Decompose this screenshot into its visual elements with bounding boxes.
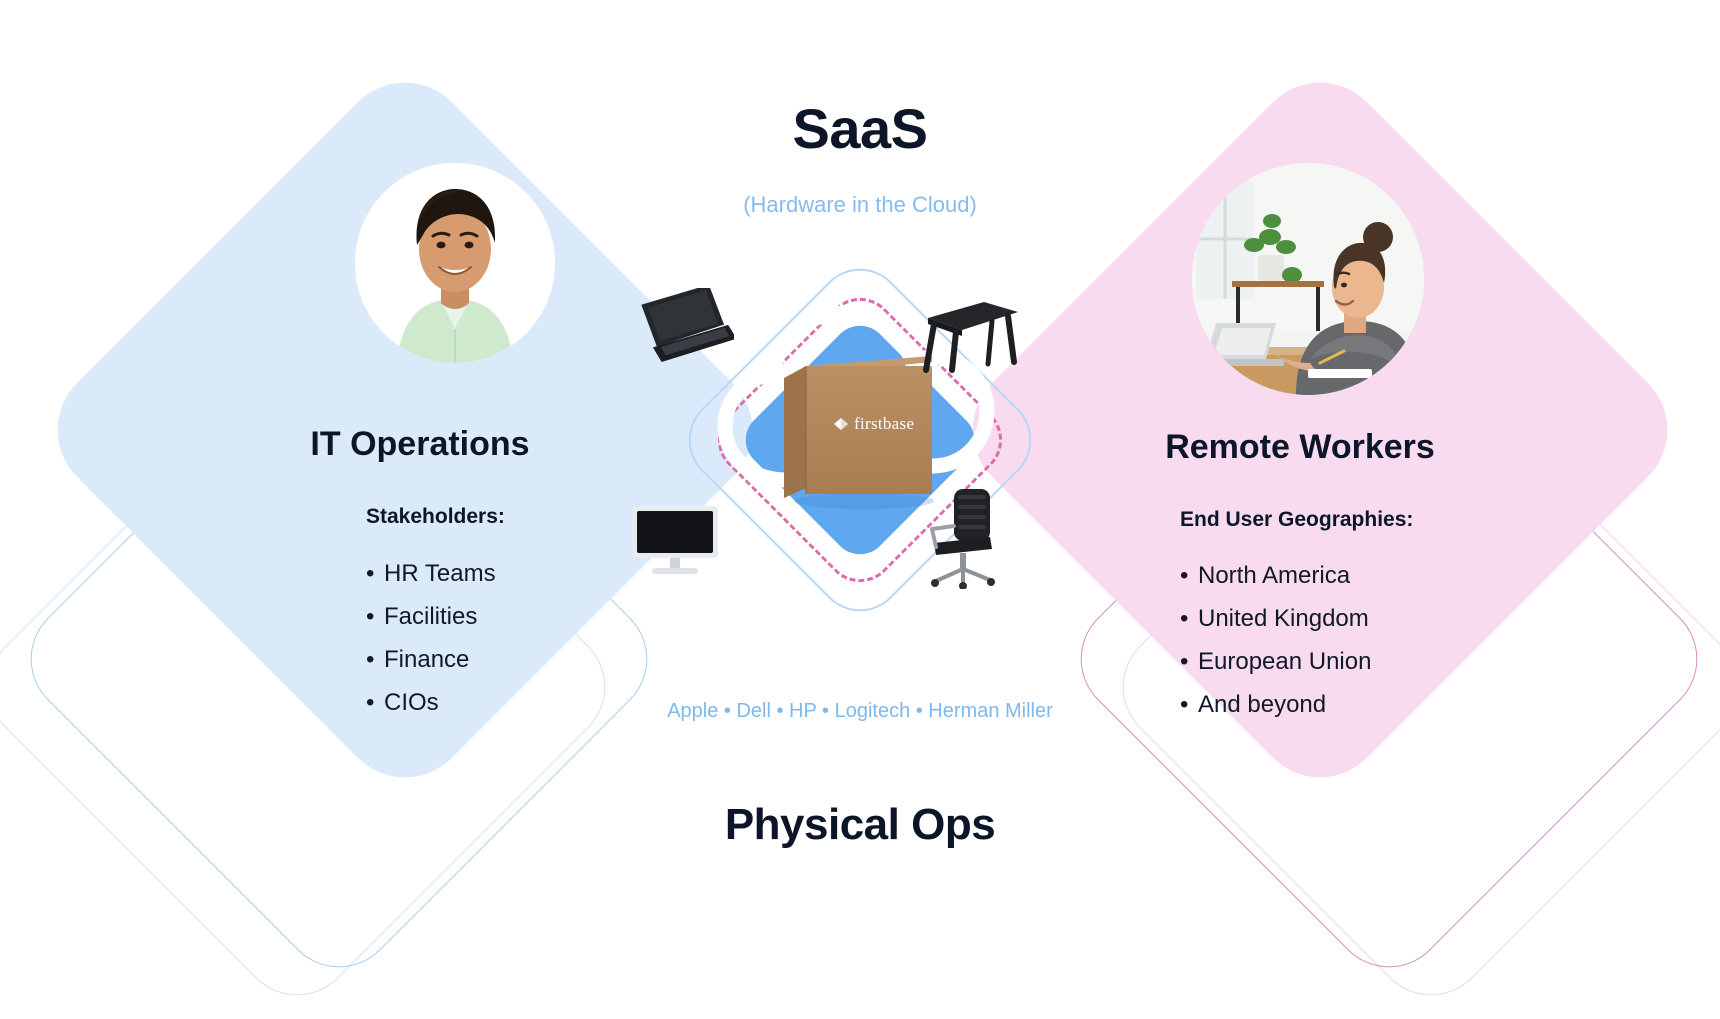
left-panel-heading: IT Operations [220, 425, 620, 464]
footer-title: Physical Ops [0, 800, 1720, 850]
right-panel-subheading: End User Geographies: [1180, 508, 1413, 532]
list-item: Facilities [366, 603, 496, 631]
brand-list: Apple • Dell • HP • Logitech • Herman Mi… [560, 700, 1160, 723]
list-item: And beyond [1180, 691, 1371, 719]
office-chair-icon [918, 485, 1010, 589]
desk-icon [922, 288, 1022, 374]
list-item: CIOs [366, 689, 496, 717]
monitor-icon [628, 502, 724, 580]
left-panel-list: HR Teams Facilities Finance CIOs [366, 560, 496, 732]
center-artwork: firstbase [660, 240, 1060, 640]
diagram-canvas: firstbase [0, 0, 1720, 960]
page-subtitle: (Hardware in the Cloud) [0, 192, 1720, 218]
list-item: United Kingdom [1180, 605, 1371, 633]
list-item: North America [1180, 562, 1371, 590]
left-panel-subheading: Stakeholders: [366, 505, 505, 529]
list-item: HR Teams [366, 560, 496, 588]
box-logo-text: firstbase [854, 414, 914, 433]
right-panel-heading: Remote Workers [1090, 428, 1510, 467]
list-item: European Union [1180, 648, 1371, 676]
laptop-icon [630, 288, 734, 368]
list-item: Finance [366, 646, 496, 674]
page-title: SaaS [0, 96, 1720, 161]
right-panel-list: North America United Kingdom European Un… [1180, 562, 1371, 734]
